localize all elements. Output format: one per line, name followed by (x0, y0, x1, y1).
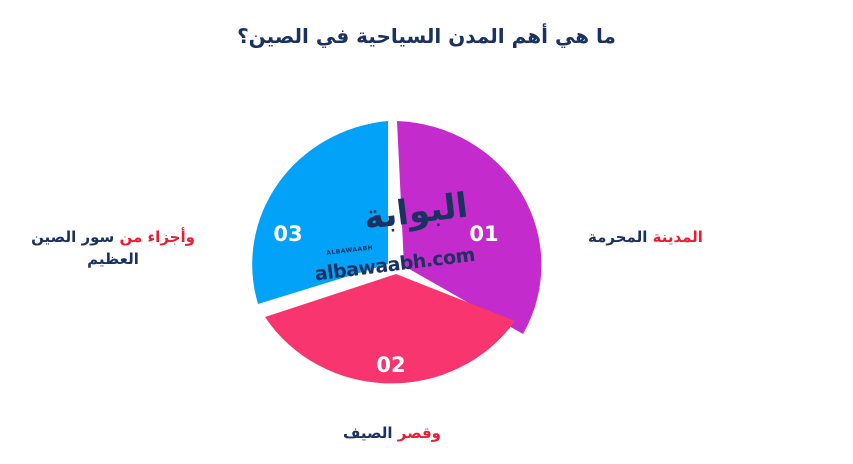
pie-label-02-highlight: وقصر (398, 424, 441, 442)
page-title: ما هي أهم المدن السياحية في الصين؟ (0, 24, 853, 48)
pie-label-02-rest: الصيف (343, 424, 393, 442)
pie-slice-number-01: 01 (469, 222, 498, 246)
pie-label-01-rest: المحرمة (588, 228, 647, 246)
pie-label-02: وقصر الصيف (272, 423, 512, 445)
pie-chart: 01 02 03 (236, 114, 550, 402)
pie-label-01-highlight: المدينة (653, 228, 703, 246)
pie-label-03: وأجزاء من سور الصين العظيم (8, 227, 218, 271)
pie-label-03-rest: سور الصين (31, 228, 114, 246)
pie-chart-svg: 01 02 03 (236, 114, 550, 402)
pie-label-03-highlight: وأجزاء من (120, 228, 195, 246)
pie-label-01: المدينة المحرمة (588, 227, 828, 249)
pie-slice-number-03: 03 (273, 222, 302, 246)
pie-slice-number-02: 02 (376, 353, 405, 377)
pie-slice-03[interactable] (252, 121, 388, 304)
pie-label-03-line2: العظيم (87, 250, 139, 268)
